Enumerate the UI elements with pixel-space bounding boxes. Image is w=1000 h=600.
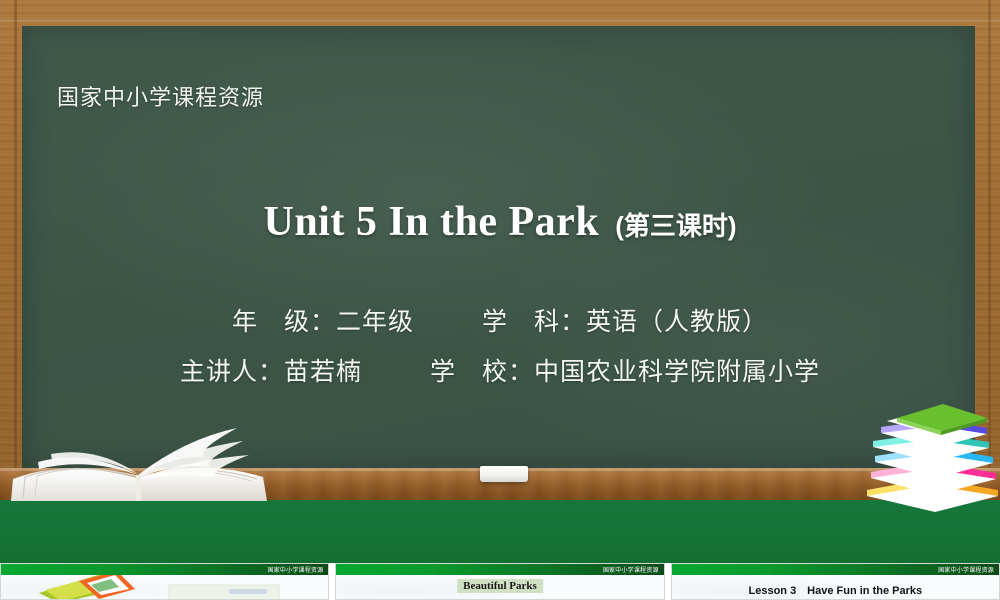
thumbnail-2-header-label: 国家中小学课程资源 xyxy=(603,565,659,574)
thumbnail-3-header: 国家中小学课程资源 xyxy=(672,564,999,575)
presentation-slide: 国家中小学课程资源 Unit 5 In the Park(第三课时) 年 级：二… xyxy=(0,0,1000,600)
meta-row-teacher-school: 主讲人：苗若楠学 校：中国农业科学院附属小学 xyxy=(0,352,1000,388)
thumbnail-3-body: Lesson 3 Have Fun in the Parks xyxy=(672,575,999,600)
thumbnail-2-body: Beautiful Parks xyxy=(336,575,663,600)
slide-title: Unit 5 In the Park(第三课时) xyxy=(0,198,1000,246)
slide-title-main: Unit 5 In the Park xyxy=(263,199,599,245)
meta-school: 学 校：中国农业科学院附属小学 xyxy=(430,352,820,388)
thumbnail-2-title: Beautiful Parks xyxy=(457,579,543,593)
thumbnail-slide-3[interactable]: 国家中小学课程资源 Lesson 3 Have Fun in the Parks xyxy=(671,563,1000,600)
thumbnail-slide-1[interactable]: 国家中小学课程资源 xyxy=(0,563,329,600)
meta-grade: 年 级：二年级 xyxy=(232,302,482,338)
open-book-icon xyxy=(5,415,275,505)
thumbnail-1-artwork-icon xyxy=(1,575,329,600)
chalk-eraser-icon xyxy=(480,466,528,482)
frame-top-seam xyxy=(0,20,1000,22)
meta-row-grade-subject: 年 级：二年级学 科：英语（人教版） xyxy=(0,302,1000,338)
thumbnail-1-header-label: 国家中小学课程资源 xyxy=(268,565,324,574)
thumbnail-3-header-label: 国家中小学课程资源 xyxy=(938,565,994,574)
slide-metadata: 年 级：二年级学 科：英语（人教版） 主讲人：苗若楠学 校：中国农业科学院附属小… xyxy=(0,302,1000,402)
slide-stage: 国家中小学课程资源 Unit 5 In the Park(第三课时) 年 级：二… xyxy=(0,0,1000,563)
thumbnail-1-body xyxy=(1,575,328,600)
book-stack-icon xyxy=(865,392,1000,512)
thumbnail-2-header: 国家中小学课程资源 xyxy=(336,564,663,575)
thumbnail-slide-2[interactable]: 国家中小学课程资源 Beautiful Parks xyxy=(335,563,664,600)
meta-teacher: 主讲人：苗若楠 xyxy=(180,352,430,388)
meta-subject: 学 科：英语（人教版） xyxy=(482,302,768,338)
thumbnail-3-title: Lesson 3 Have Fun in the Parks xyxy=(749,582,923,598)
thumbnail-1-header: 国家中小学课程资源 xyxy=(1,564,328,575)
wall-below-board xyxy=(0,500,1000,563)
brand-label: 国家中小学课程资源 xyxy=(57,80,264,112)
slide-thumbnail-strip[interactable]: 国家中小学课程资源 国家中小学课程资源 xyxy=(0,563,1000,600)
slide-title-sub: (第三课时) xyxy=(615,211,736,241)
